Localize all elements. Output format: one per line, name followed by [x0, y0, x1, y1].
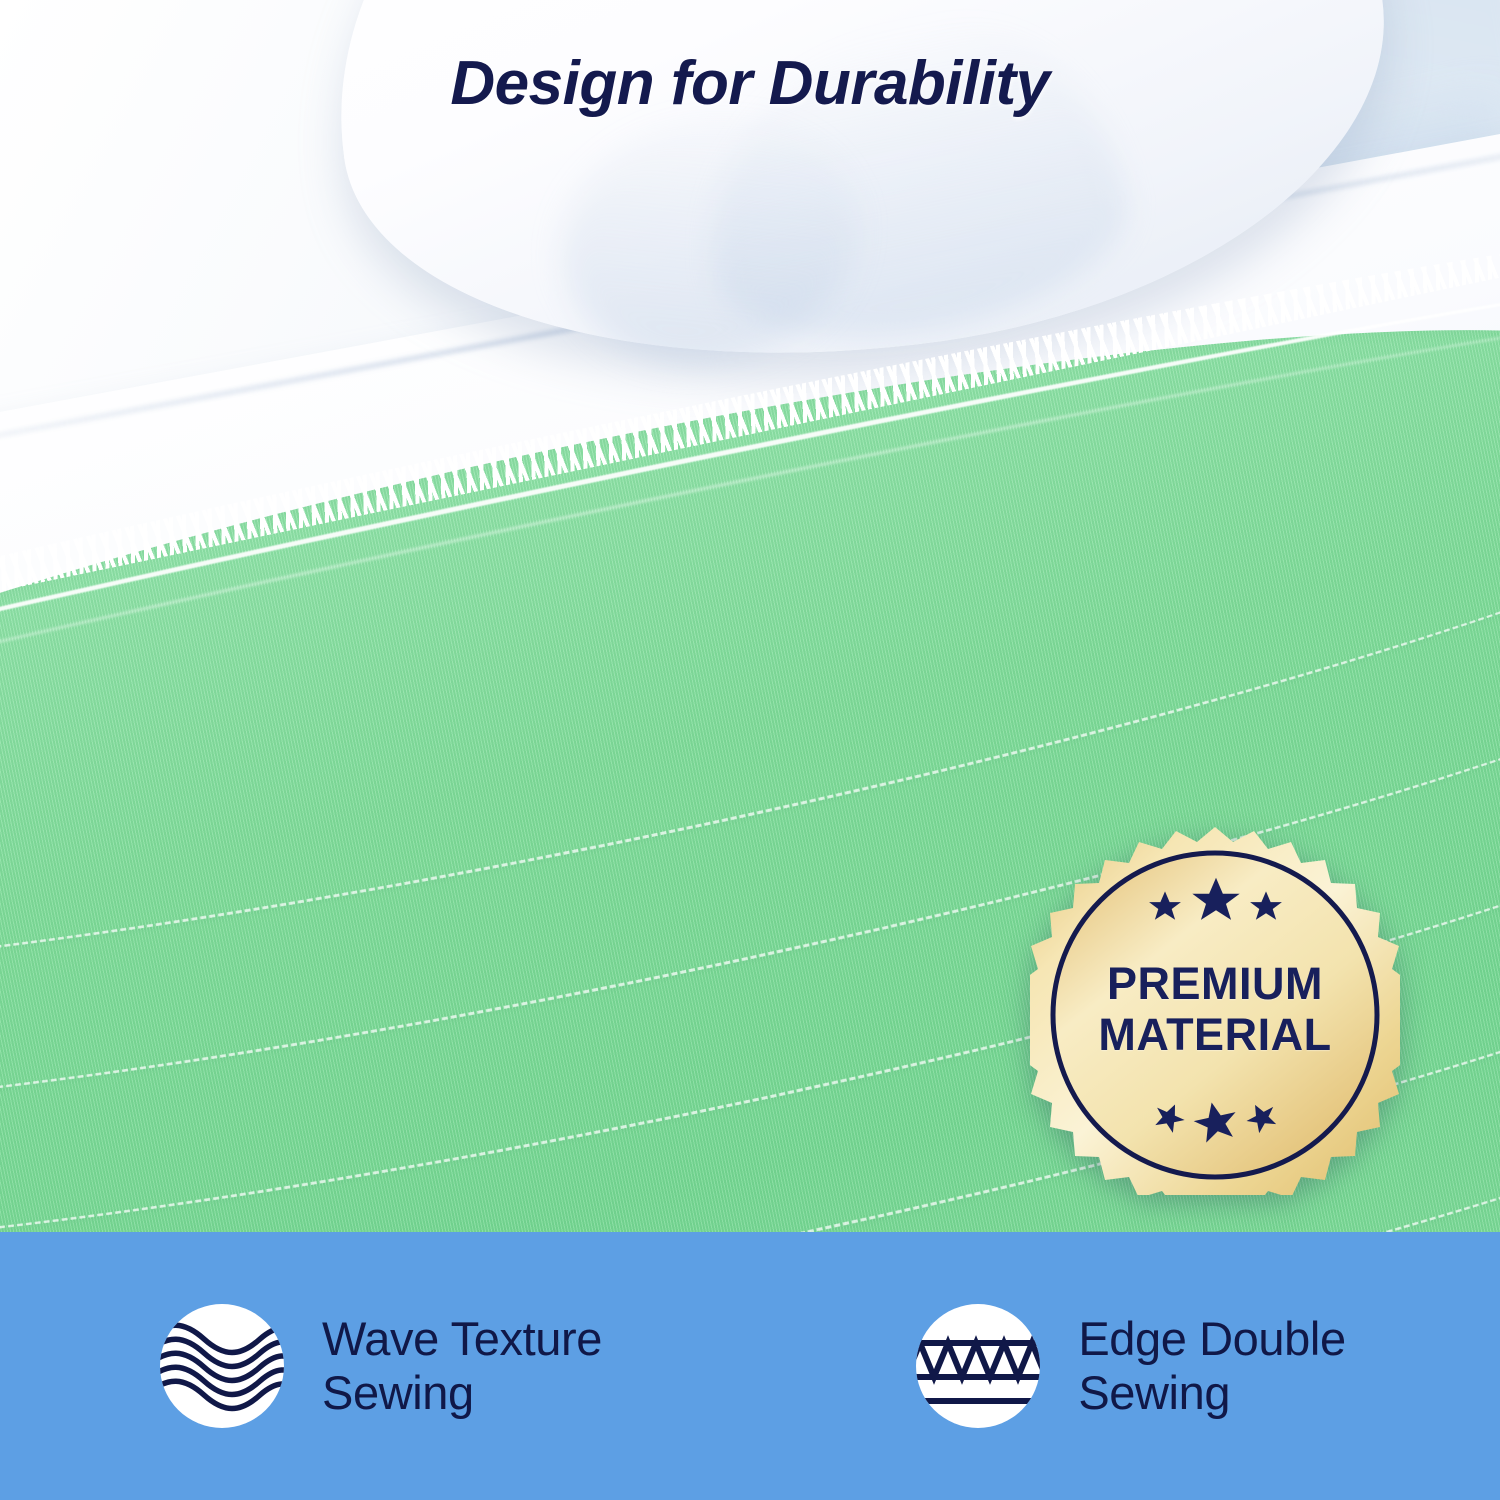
product-feature-graphic: Design for Durability	[0, 0, 1500, 1500]
zigzag-stitch-icon	[904, 1281, 1052, 1451]
feature-wave-texture-sewing: Wave Texture Sewing	[0, 1281, 750, 1451]
feature-label-edge: Edge Double Sewing	[1078, 1312, 1345, 1419]
premium-material-badge: PREMIUM MATERIAL	[1030, 825, 1400, 1195]
feature-edge-double-sewing: Edge Double Sewing	[750, 1281, 1500, 1451]
feature-bar: Wave Texture Sewing Edge Double	[0, 1232, 1500, 1500]
page-title: Design for Durability	[0, 48, 1500, 119]
wave-lines-icon	[148, 1281, 296, 1451]
product-photo: Design for Durability	[0, 0, 1500, 1232]
feature-label-wave: Wave Texture Sewing	[322, 1312, 602, 1419]
